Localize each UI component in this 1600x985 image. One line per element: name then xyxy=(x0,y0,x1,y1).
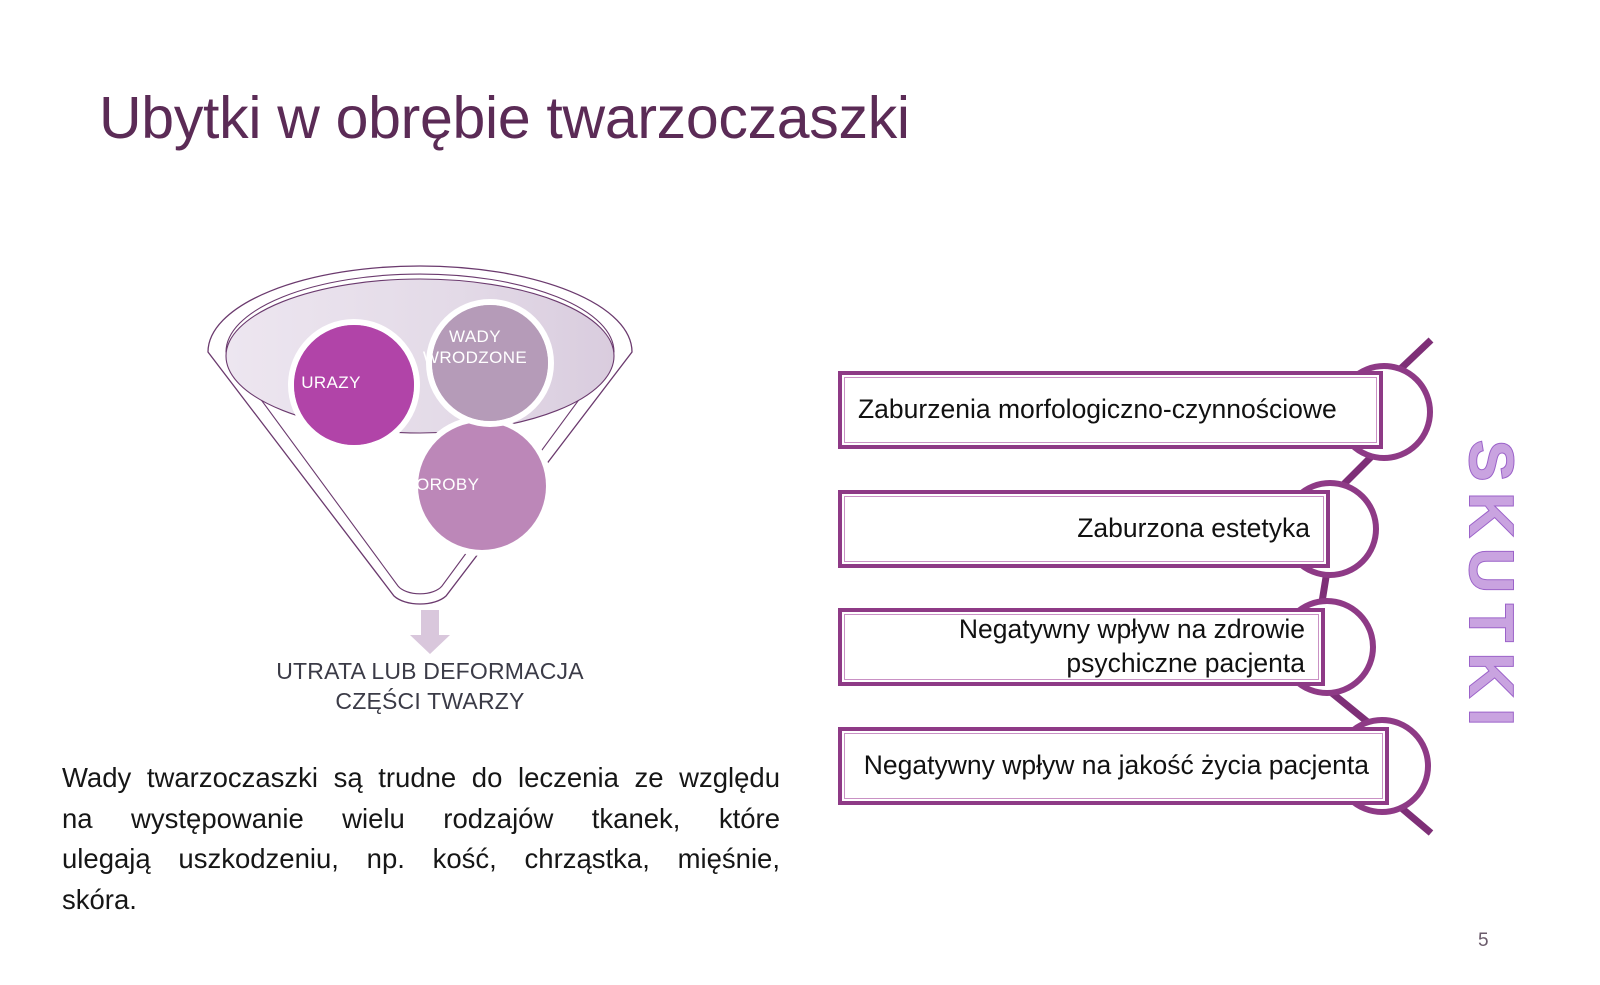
slide-canvas: Ubytki w obrębie twarzoczaszki xyxy=(0,0,1600,985)
effect-box[interactable]: Negatywny wpływ na zdrowie psychiczne pa… xyxy=(838,608,1325,686)
effect-box-label: Negatywny wpływ na zdrowie psychiczne pa… xyxy=(842,613,1321,680)
body-line-2: na występowanie wielu rodzajów tkanek, k… xyxy=(62,799,780,840)
effect-box-label: Negatywny wpływ na jakość życia pacjenta xyxy=(842,749,1385,783)
effect-box[interactable]: Negatywny wpływ na jakość życia pacjenta xyxy=(838,727,1389,805)
effect-box[interactable]: Zaburzenia morfologiczno-czynnościowe xyxy=(838,371,1383,449)
funnel-caption-line1: UTRATA LUB DEFORMACJA xyxy=(250,657,610,687)
body-paragraph: Wady twarzoczaszki są trudne do leczenia… xyxy=(62,758,780,921)
funnel-caption-line2: CZĘŚCI TWARZY xyxy=(250,687,610,717)
effect-box-label: Zaburzenia morfologiczno-czynnościowe xyxy=(842,393,1379,427)
page-number: 5 xyxy=(1478,930,1489,952)
effect-box-label: Zaburzona estetyka xyxy=(842,512,1326,546)
effects-diagram: Zaburzenia morfologiczno-czynnościowe Za… xyxy=(830,330,1450,840)
funnel-caption: UTRATA LUB DEFORMACJA CZĘŚCI TWARZY xyxy=(250,657,610,716)
page-title: Ubytki w obrębie twarzoczaszki xyxy=(99,88,910,150)
body-line-4: skóra. xyxy=(62,880,780,921)
down-arrow-icon xyxy=(406,608,454,656)
funnel-circle-wady xyxy=(432,305,548,421)
skutki-group-label: SKUTKI xyxy=(1455,440,1525,740)
body-line-3: ulegają uszkodzeniu, np. kość, chrząstka… xyxy=(62,839,780,880)
funnel-svg xyxy=(190,248,650,608)
funnel-rim-fill xyxy=(226,279,614,433)
funnel-circle-choroby xyxy=(418,422,546,550)
funnel-diagram xyxy=(190,248,650,608)
body-line-1: Wady twarzoczaszki są trudne do leczenia… xyxy=(62,758,780,799)
effect-box[interactable]: Zaburzona estetyka xyxy=(838,490,1330,568)
funnel-circle-urazy xyxy=(294,325,414,445)
